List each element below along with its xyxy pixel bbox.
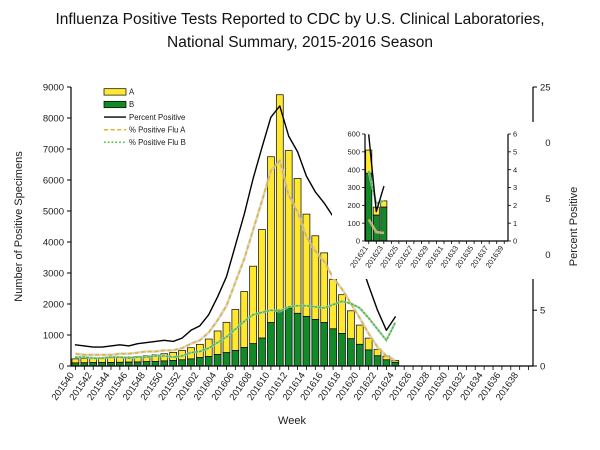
bar-flu-b <box>214 355 221 366</box>
bar-flu-b <box>205 356 212 366</box>
inset-y-axis-tick-label-left: 400 <box>347 165 360 174</box>
bar-flu-b <box>339 333 346 366</box>
y-axis-tick-label-left: 3000 <box>43 268 64 279</box>
inset-y-axis-tick-label-right: 0 <box>513 237 517 246</box>
bar-flu-b <box>285 308 292 366</box>
bar-flu-b <box>259 338 266 366</box>
legend-swatch-a <box>104 89 126 95</box>
y-axis-tick-label-right: 0 <box>540 361 545 372</box>
influenza-chart-figure: Influenza Positive Tests Reported to CDC… <box>0 0 600 450</box>
inset-y-axis-tick-label-right: 5 <box>513 148 517 157</box>
bar-flu-b <box>312 320 319 367</box>
bar-flu-b <box>374 356 381 366</box>
inset-y-axis-tick-label-left: 600 <box>347 130 360 139</box>
legend-label: % Positive Flu A <box>129 125 186 134</box>
bar-flu-b <box>152 361 159 366</box>
bar-flu-b <box>347 339 354 366</box>
bar-flu-b <box>232 351 239 367</box>
y-axis-tick-label-right: 5 <box>540 306 545 317</box>
y-axis-tick-label-right: 25 <box>540 82 551 93</box>
inset-y-axis-tick-label-right: 3 <box>513 183 517 192</box>
bar-flu-b <box>321 323 328 366</box>
bar-flu-b <box>170 360 177 366</box>
y-axis-tick-label-left: 7000 <box>43 144 64 155</box>
inset-y-axis-tick-label-right: 1 <box>513 219 517 228</box>
y-axis-tick-label-left: 4000 <box>43 237 64 248</box>
inset-y-axis-tick-label-left: 200 <box>347 201 360 210</box>
legend-label: Percent Positive <box>129 113 185 122</box>
y-axis-tick-label-left: 8000 <box>43 113 64 124</box>
bar-flu-b <box>241 347 248 366</box>
inset-y-axis-tick-label-right: 6 <box>513 130 517 139</box>
bar-flu-a <box>356 325 363 344</box>
legend-swatch-b <box>104 101 126 107</box>
bar-flu-b <box>267 323 274 366</box>
legend-label: A <box>129 88 135 97</box>
y-axis-tick-label-left: 5000 <box>43 206 64 217</box>
bar-flu-b <box>294 313 301 366</box>
y-axis-title-left: Number of Positive Specimens <box>13 151 25 302</box>
bar-flu-b <box>161 361 168 366</box>
inset-y-axis-tick-label-left: 0 <box>356 237 360 246</box>
bar-flu-a <box>276 95 283 310</box>
y-axis-tick-label-left: 9000 <box>43 82 64 93</box>
bar-flu-b <box>143 362 150 366</box>
bar-flu-b <box>276 310 283 366</box>
legend-label: B <box>129 100 134 109</box>
bar-flu-a <box>294 178 301 313</box>
bar-flu-a <box>285 151 292 308</box>
bar-flu-a <box>365 338 372 350</box>
y-axis-tick-label-left: 2000 <box>43 299 64 310</box>
bar-flu-b <box>356 344 363 366</box>
bar-flu-a <box>72 359 79 363</box>
bar-flu-a <box>259 230 266 339</box>
inset-y-axis-tick-label-left: 100 <box>347 219 360 228</box>
y-axis-tick-label-left: 6000 <box>43 175 64 186</box>
bar-flu-b <box>223 353 230 366</box>
y-axis-tick-label-left: 0 <box>59 361 64 372</box>
chart-canvas: 0100020003000400050006000700080009000051… <box>0 0 600 450</box>
bar-flu-b <box>383 360 390 366</box>
legend: ABPercent Positive% Positive Flu A% Posi… <box>104 88 186 147</box>
bar-flu-b <box>303 316 310 366</box>
bar-flu-b <box>187 359 194 366</box>
inset-y-axis-tick-label-left: 300 <box>347 183 360 192</box>
legend-label: % Positive Flu B <box>129 138 186 147</box>
bar-flu-b <box>179 360 186 366</box>
bar-flu-b <box>196 358 203 366</box>
inset-y-axis-tick-label-right: 4 <box>513 165 517 174</box>
x-axis-title: Week <box>278 415 306 427</box>
bar-flu-a <box>250 266 257 344</box>
y-axis-title-right: Percent Positive <box>568 187 580 266</box>
bar-flu-b <box>365 350 372 366</box>
bar-flu-a <box>81 358 88 362</box>
bar-flu-b <box>330 329 337 366</box>
bar-flu-b <box>250 344 257 366</box>
bar-flu-a <box>347 311 354 339</box>
bar-flu-b <box>134 362 141 366</box>
inset-y-axis-tick-label-left: 500 <box>347 148 360 157</box>
y-axis-tick-label-left: 1000 <box>43 330 64 341</box>
inset-chart: 0100200300400500600012345620162120162320… <box>332 122 545 279</box>
inset-bar-flu-b <box>381 207 387 241</box>
inset-y-axis-tick-label-right: 2 <box>513 201 517 210</box>
